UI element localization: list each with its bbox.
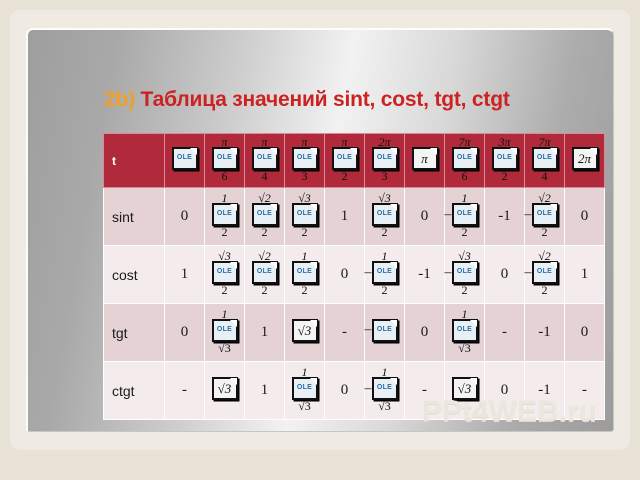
tgt-cell-8: - — [485, 304, 525, 362]
cost-cell-7: √32 — [445, 246, 485, 304]
equation-object[interactable]: 1√3 — [452, 308, 478, 353]
equation-denominator: 2 — [332, 170, 358, 181]
equation-denominator — [292, 342, 318, 353]
equation-object[interactable]: √32 — [372, 192, 398, 237]
equation-denominator: 2 — [452, 284, 478, 295]
broken-ole-icon — [452, 203, 478, 226]
ctgt-cell-3: 1√3 — [285, 362, 325, 420]
cost-cell-9: √22 — [525, 246, 565, 304]
broken-ole-icon — [332, 147, 358, 170]
table-header-row: t π6π4π3π22π3π7π63π27π42π — [104, 134, 605, 188]
equation-numerator: 2π — [372, 136, 398, 147]
equation-numerator: 1 — [212, 192, 238, 203]
cost-cell-5: 12 — [365, 246, 405, 304]
header-cell-0 — [165, 134, 205, 188]
broken-ole-icon: 2π — [572, 147, 598, 170]
ctgt-cell-2: 1 — [245, 362, 285, 420]
header-cell-3: π3 — [285, 134, 325, 188]
table-body: sint012√22√321√32012-1√220cost1√32√22120… — [104, 188, 605, 420]
broken-ole-icon: √3 — [292, 319, 318, 342]
sint-cell-0: 0 — [165, 188, 205, 246]
equation-object[interactable]: 7π4 — [532, 136, 558, 181]
header-cell-4: π2 — [325, 134, 365, 188]
equation-numerator: 7π — [532, 136, 558, 147]
ctgt-cell-0: - — [165, 362, 205, 420]
equation-numerator: 1 — [372, 250, 398, 261]
row-label-sint: sint — [104, 188, 165, 246]
broken-ole-icon — [372, 319, 398, 342]
equation-numerator — [452, 366, 478, 377]
sint-cell-3: √32 — [285, 188, 325, 246]
cell-value: - — [342, 324, 347, 340]
broken-ole-icon — [372, 377, 398, 400]
cell-value: -1 — [538, 324, 551, 340]
cell-value: - — [182, 382, 187, 398]
equation-denominator: √3 — [452, 342, 478, 353]
cell-value: 0 — [181, 324, 189, 340]
equation-numerator: √2 — [252, 192, 278, 203]
cell-value: 0 — [581, 208, 589, 224]
broken-ole-icon — [292, 203, 318, 226]
equation-denominator — [172, 170, 198, 181]
equation-denominator: 2 — [252, 284, 278, 295]
equation-object[interactable]: 1√3 — [212, 308, 238, 353]
cost-cell-3: 12 — [285, 246, 325, 304]
equation-denominator: √3 — [212, 342, 238, 353]
equation-object[interactable]: √22 — [252, 192, 278, 237]
broken-ole-icon — [372, 203, 398, 226]
equation-object[interactable]: √32 — [212, 250, 238, 295]
equation-object[interactable]: π3 — [292, 136, 318, 181]
equation-object[interactable]: 1√3 — [372, 366, 398, 411]
broken-ole-icon — [532, 261, 558, 284]
equation-numerator — [572, 136, 598, 147]
cell-value: 1 — [261, 382, 269, 398]
broken-ole-icon — [212, 261, 238, 284]
equation-numerator: √3 — [372, 192, 398, 203]
equation-object[interactable]: √32 — [452, 250, 478, 295]
equation-denominator: 6 — [452, 170, 478, 181]
broken-ole-icon — [212, 203, 238, 226]
title-text: Таблица значений sint, cost, tgt, ctgt — [141, 88, 510, 111]
sint-cell-5: √32 — [365, 188, 405, 246]
equation-numerator — [412, 136, 438, 147]
equation-numerator: 3π — [492, 136, 518, 147]
tgt-cell-6: 0 — [405, 304, 445, 362]
header-cell-6: π — [405, 134, 445, 188]
broken-ole-icon — [532, 203, 558, 226]
table-row: tgt01√31√3-01√3--10 — [104, 304, 605, 362]
header-cell-2: π4 — [245, 134, 285, 188]
equation-numerator: 1 — [292, 366, 318, 377]
broken-ole-icon — [212, 319, 238, 342]
slide-frame: 2b) Таблица значений sint, cost, tgt, ct… — [10, 10, 630, 450]
broken-ole-icon: π — [412, 147, 438, 170]
equation-denominator: 3 — [372, 170, 398, 181]
page-title: 2b) Таблица значений sint, cost, tgt, ct… — [104, 88, 510, 112]
equation-denominator: 2 — [212, 284, 238, 295]
cell-value: 0 — [341, 266, 349, 282]
equation-numerator: 1 — [452, 192, 478, 203]
sint-cell-10: 0 — [565, 188, 605, 246]
equation-numerator: π — [292, 136, 318, 147]
sint-cell-6: 0 — [405, 188, 445, 246]
trig-values-table: t π6π4π3π22π3π7π63π27π42π sint012√22√321… — [103, 133, 605, 420]
equation-denominator: 2 — [252, 226, 278, 237]
row-label-cost: cost — [104, 246, 165, 304]
equation-numerator: 7π — [452, 136, 478, 147]
tgt-cell-7: 1√3 — [445, 304, 485, 362]
equation-object[interactable]: π4 — [252, 136, 278, 181]
title-number: 2b) — [104, 88, 135, 111]
broken-ole-icon — [212, 147, 238, 170]
equation-denominator: 2 — [372, 284, 398, 295]
equation-object[interactable]: √3 — [212, 366, 238, 411]
equation-object[interactable]: √32 — [292, 192, 318, 237]
cost-cell-8: 0 — [485, 246, 525, 304]
equation-numerator: π — [252, 136, 278, 147]
equation-object[interactable]: 12 — [452, 192, 478, 237]
sint-cell-4: 1 — [325, 188, 365, 246]
row-label-tgt: tgt — [104, 304, 165, 362]
header-cell-10: 2π — [565, 134, 605, 188]
broken-ole-icon — [292, 261, 318, 284]
broken-ole-icon — [452, 261, 478, 284]
table-row: cost1√32√2212012-1√320√221 — [104, 246, 605, 304]
broken-ole-icon — [372, 261, 398, 284]
equation-numerator: π — [212, 136, 238, 147]
equation-object[interactable]: 1√3 — [292, 366, 318, 411]
sint-cell-1: 12 — [205, 188, 245, 246]
broken-ole-icon: √3 — [212, 377, 238, 400]
cost-cell-10: 1 — [565, 246, 605, 304]
header-cell-9: 7π4 — [525, 134, 565, 188]
table-head: t π6π4π3π22π3π7π63π27π42π — [104, 134, 605, 188]
broken-ole-icon — [492, 147, 518, 170]
equation-object[interactable]: 3π2 — [492, 136, 518, 181]
equation-denominator: 2 — [452, 226, 478, 237]
broken-ole-icon — [292, 147, 318, 170]
broken-ole-icon — [452, 319, 478, 342]
header-label-t: t — [104, 134, 165, 188]
equation-denominator: 4 — [532, 170, 558, 181]
equation-object[interactable] — [372, 308, 398, 353]
equation-object[interactable]: √22 — [532, 250, 558, 295]
ctgt-cell-1: √3 — [205, 362, 245, 420]
sint-cell-8: -1 — [485, 188, 525, 246]
equation-denominator: 2 — [532, 284, 558, 295]
equation-object[interactable]: 12 — [292, 250, 318, 295]
equation-numerator — [292, 308, 318, 319]
cell-value: 0 — [581, 324, 589, 340]
equation-object[interactable]: √22 — [532, 192, 558, 237]
equation-numerator: 1 — [292, 250, 318, 261]
equation-denominator: √3 — [372, 400, 398, 411]
equation-numerator: π — [332, 136, 358, 147]
header-cell-7: 7π6 — [445, 134, 485, 188]
tgt-cell-1: 1√3 — [205, 304, 245, 362]
sint-cell-7: 12 — [445, 188, 485, 246]
watermark: PPt4WEB.ru — [422, 395, 597, 429]
equation-denominator: 2 — [492, 170, 518, 181]
equation-denominator — [212, 400, 238, 411]
tgt-cell-9: -1 — [525, 304, 565, 362]
equation-object[interactable]: √22 — [252, 250, 278, 295]
equation-denominator: 2 — [212, 226, 238, 237]
equation-glyph: π — [414, 151, 436, 166]
cell-value: -1 — [498, 208, 511, 224]
equation-denominator: 4 — [252, 170, 278, 181]
equation-numerator: √3 — [212, 250, 238, 261]
equation-object[interactable]: 12 — [372, 250, 398, 295]
broken-ole-icon — [452, 147, 478, 170]
equation-numerator: √3 — [452, 250, 478, 261]
tgt-cell-5 — [365, 304, 405, 362]
slide-canvas: 2b) Таблица значений sint, cost, tgt, ct… — [26, 28, 614, 432]
equation-numerator: √2 — [532, 250, 558, 261]
ctgt-cell-4: 0 — [325, 362, 365, 420]
equation-glyph: √3 — [214, 381, 236, 396]
cost-cell-2: √22 — [245, 246, 285, 304]
equation-object[interactable]: 2π3 — [372, 136, 398, 181]
equation-object[interactable]: √3 — [292, 308, 318, 353]
equation-numerator: √2 — [252, 250, 278, 261]
equation-glyph: √3 — [454, 381, 476, 396]
broken-ole-icon — [292, 377, 318, 400]
equation-numerator — [212, 366, 238, 377]
tgt-cell-0: 0 — [165, 304, 205, 362]
cell-value: -1 — [418, 266, 431, 282]
equation-denominator — [412, 170, 438, 181]
equation-denominator: 2 — [532, 226, 558, 237]
tgt-cell-3: √3 — [285, 304, 325, 362]
equation-object[interactable]: π — [412, 136, 438, 181]
cell-value: 1 — [261, 324, 269, 340]
cost-cell-1: √32 — [205, 246, 245, 304]
broken-ole-icon — [252, 203, 278, 226]
equation-denominator: 2 — [372, 226, 398, 237]
tgt-cell-2: 1 — [245, 304, 285, 362]
equation-object[interactable]: 12 — [212, 192, 238, 237]
equation-glyph: √3 — [294, 323, 316, 338]
equation-numerator: 1 — [452, 308, 478, 319]
header-cell-8: 3π2 — [485, 134, 525, 188]
broken-ole-icon — [252, 261, 278, 284]
row-label-ctgt: ctgt — [104, 362, 165, 420]
cell-value: 0 — [421, 324, 429, 340]
broken-ole-icon — [372, 147, 398, 170]
broken-ole-icon — [252, 147, 278, 170]
table-row: sint012√22√321√32012-1√220 — [104, 188, 605, 246]
equation-numerator — [172, 136, 198, 147]
ctgt-cell-5: 1√3 — [365, 362, 405, 420]
cell-value: 1 — [181, 266, 189, 282]
header-cell-1: π6 — [205, 134, 245, 188]
cell-value: 0 — [341, 382, 349, 398]
equation-object[interactable] — [172, 136, 198, 181]
sint-cell-2: √22 — [245, 188, 285, 246]
equation-denominator: 2 — [292, 226, 318, 237]
cell-value: 0 — [181, 208, 189, 224]
cost-cell-0: 1 — [165, 246, 205, 304]
equation-denominator: √3 — [292, 400, 318, 411]
tgt-cell-10: 0 — [565, 304, 605, 362]
equation-denominator — [572, 170, 598, 181]
equation-numerator: √3 — [292, 192, 318, 203]
equation-glyph: 2π — [574, 151, 596, 166]
cell-value: 0 — [421, 208, 429, 224]
cell-value: 1 — [581, 266, 589, 282]
equation-object[interactable]: π6 — [212, 136, 238, 181]
cost-cell-4: 0 — [325, 246, 365, 304]
tgt-cell-4: - — [325, 304, 365, 362]
equation-object[interactable]: π2 — [332, 136, 358, 181]
broken-ole-icon — [172, 147, 198, 170]
sint-cell-9: √22 — [525, 188, 565, 246]
equation-object[interactable]: 2π — [572, 136, 598, 181]
equation-numerator — [372, 308, 398, 319]
equation-object[interactable]: 7π6 — [452, 136, 478, 181]
equation-denominator — [372, 342, 398, 353]
cell-value: 0 — [501, 266, 509, 282]
equation-denominator: 6 — [212, 170, 238, 181]
equation-numerator: √2 — [532, 192, 558, 203]
equation-denominator: 2 — [292, 284, 318, 295]
equation-denominator: 3 — [292, 170, 318, 181]
broken-ole-icon — [532, 147, 558, 170]
cell-value: 1 — [341, 208, 349, 224]
header-cell-5: 2π3 — [365, 134, 405, 188]
cost-cell-6: -1 — [405, 246, 445, 304]
equation-numerator: 1 — [372, 366, 398, 377]
cell-value: - — [502, 324, 507, 340]
equation-numerator: 1 — [212, 308, 238, 319]
